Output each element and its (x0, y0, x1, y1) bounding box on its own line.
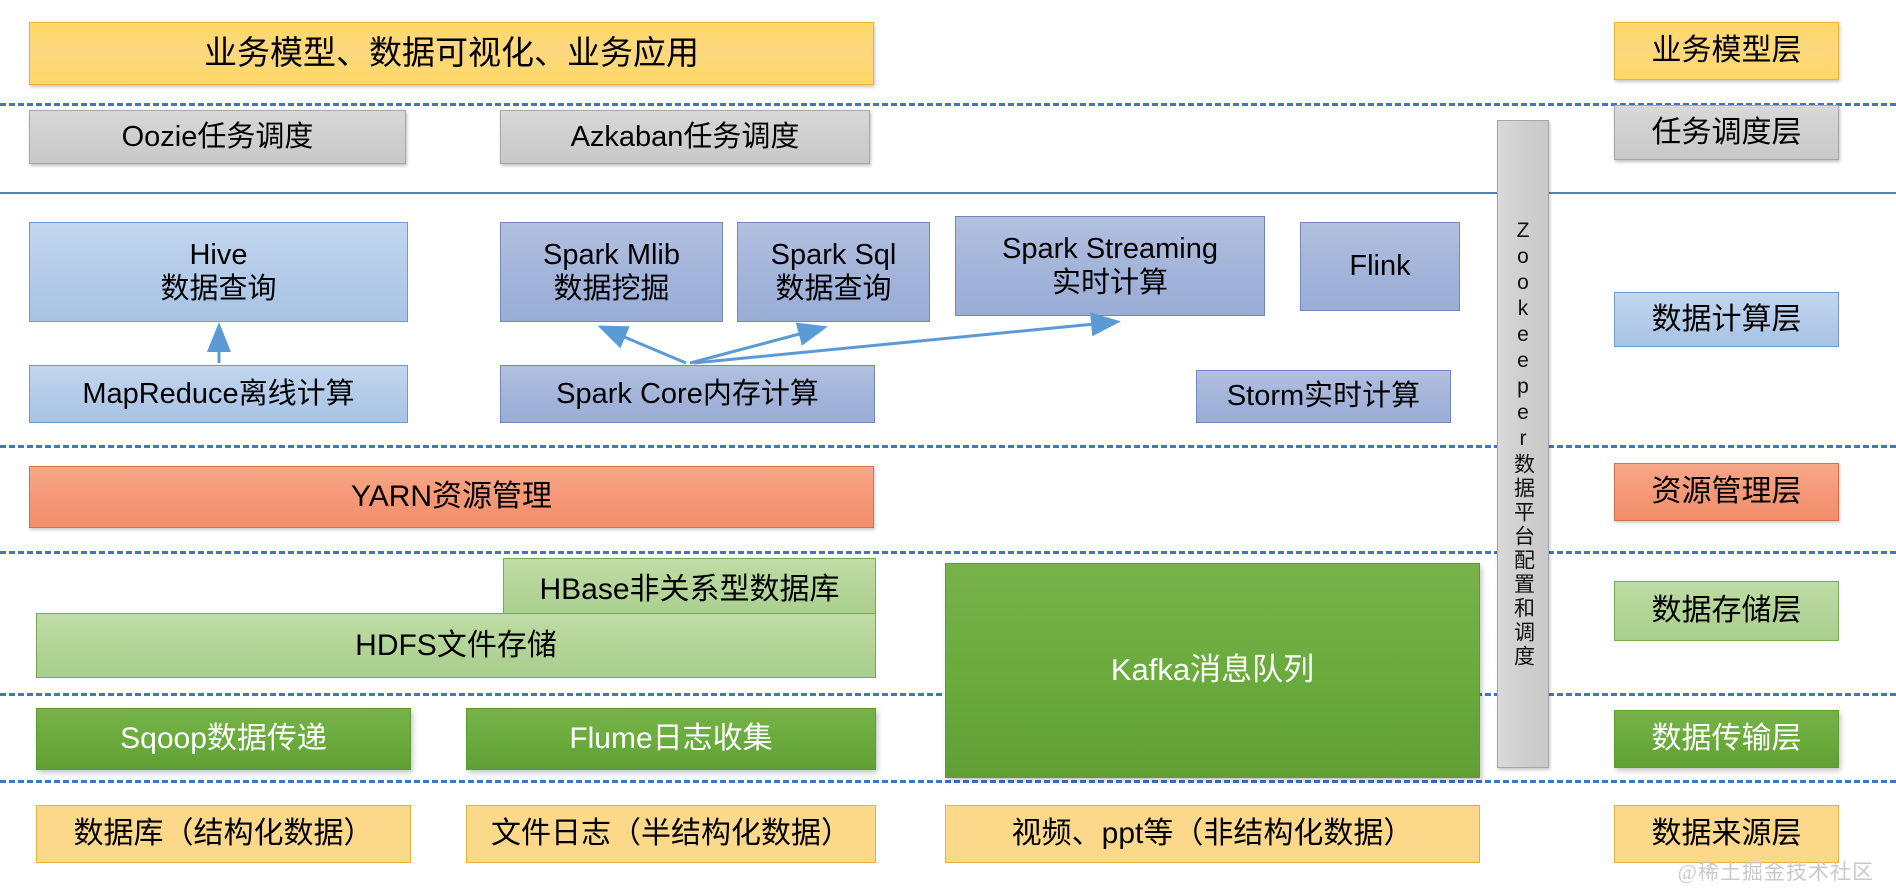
sidebar-label-storage[interactable]: 数据存储层 (1614, 581, 1839, 641)
box-hive[interactable]: Hive 数据查询 (29, 222, 408, 322)
box-spark-mlib[interactable]: Spark Mlib 数据挖掘 (500, 222, 723, 322)
box-sqoop[interactable]: Sqoop数据传递 (36, 708, 411, 770)
box-azkaban-scheduler[interactable]: Azkaban任务调度 (500, 110, 870, 164)
box-source-filelog[interactable]: 文件日志（半结构化数据） (466, 805, 876, 863)
divider-schedule-compute (0, 192, 1896, 194)
box-zookeeper[interactable]: Zookeeper数据平台配置和调度 (1497, 120, 1549, 768)
box-flume[interactable]: Flume日志收集 (466, 708, 876, 770)
sidebar-label-compute[interactable]: 数据计算层 (1614, 292, 1839, 347)
arrow-sparkcore-to-sparksql (690, 328, 822, 363)
divider-resource-storage (0, 551, 1896, 554)
sidebar-label-schedule[interactable]: 任务调度层 (1614, 105, 1839, 160)
watermark: @稀土掘金技术社区 (1678, 856, 1874, 886)
box-source-unstructured[interactable]: 视频、ppt等（非结构化数据） (945, 805, 1480, 863)
box-business-application[interactable]: 业务模型、数据可视化、业务应用 (29, 22, 874, 85)
zookeeper-label: Zookeeper数据平台配置和调度 (1513, 219, 1534, 669)
box-oozie-scheduler[interactable]: Oozie任务调度 (29, 110, 406, 164)
box-spark-streaming[interactable]: Spark Streaming 实时计算 (955, 216, 1265, 316)
architecture-diagram: 业务模型、数据可视化、业务应用 Oozie任务调度 Azkaban任务调度 Hi… (0, 0, 1896, 892)
divider-business-schedule (0, 103, 1896, 106)
sidebar-label-business[interactable]: 业务模型层 (1614, 22, 1839, 80)
box-spark-sql[interactable]: Spark Sql 数据查询 (737, 222, 930, 322)
sidebar-label-source[interactable]: 数据来源层 (1614, 805, 1839, 863)
box-spark-core[interactable]: Spark Core内存计算 (500, 365, 875, 423)
box-kafka[interactable]: Kafka消息队列 (945, 563, 1480, 778)
box-yarn[interactable]: YARN资源管理 (29, 466, 874, 528)
box-source-database[interactable]: 数据库（结构化数据） (36, 805, 411, 863)
sidebar-label-transport[interactable]: 数据传输层 (1614, 710, 1839, 768)
divider-compute-resource (0, 445, 1896, 448)
box-hdfs[interactable]: HDFS文件存储 (36, 613, 876, 678)
arrow-sparkcore-to-streaming (694, 322, 1115, 363)
divider-transport-source (0, 780, 1896, 783)
sidebar-label-resource[interactable]: 资源管理层 (1614, 463, 1839, 521)
box-flink[interactable]: Flink (1300, 222, 1460, 311)
box-mapreduce[interactable]: MapReduce离线计算 (29, 365, 408, 423)
arrow-sparkcore-to-mlib (603, 328, 686, 363)
box-storm[interactable]: Storm实时计算 (1196, 370, 1451, 423)
